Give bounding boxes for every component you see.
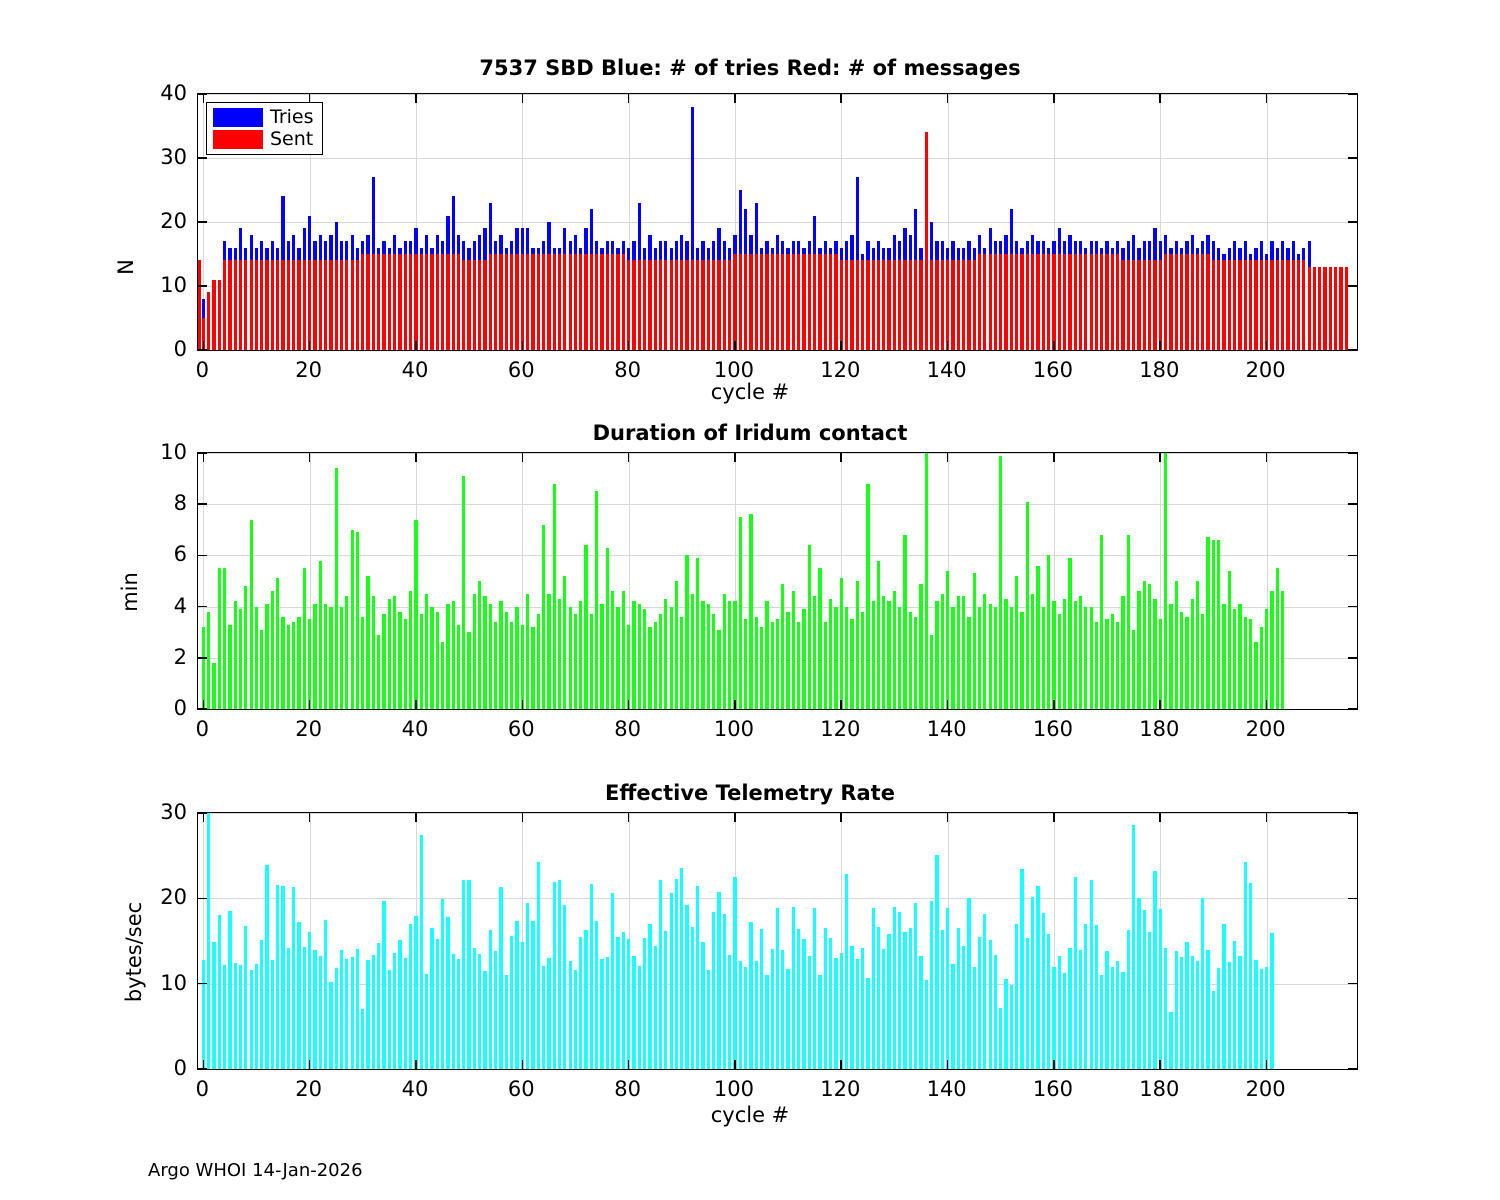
bar-sent	[1244, 260, 1247, 350]
bar-sent	[558, 254, 561, 350]
bar-sent	[319, 260, 322, 350]
ytick-mark	[1348, 657, 1357, 659]
gridline-horizontal	[198, 504, 1357, 505]
bar-rate	[600, 959, 603, 1069]
xtick-label: 160	[1033, 1077, 1073, 1101]
bar-sent	[510, 254, 513, 350]
bar-sent	[1323, 267, 1326, 350]
bar-rate	[542, 966, 545, 1069]
bar-sent	[228, 260, 231, 350]
xtick-label: 0	[196, 358, 209, 382]
bar-rate	[1068, 948, 1071, 1069]
bar-rate	[632, 956, 635, 1069]
xtick-mark	[947, 341, 949, 350]
ytick-mark	[1348, 221, 1357, 223]
bar-sent	[1100, 254, 1103, 350]
bar-duration	[452, 601, 455, 709]
bar-sent	[606, 254, 609, 350]
bar-sent	[1175, 254, 1178, 350]
bar-sent	[462, 260, 465, 350]
bar-duration	[707, 604, 710, 709]
bar-duration	[1105, 619, 1108, 709]
bar-sent	[994, 254, 997, 350]
xtick-mark	[628, 453, 630, 462]
bar-sent	[983, 254, 986, 350]
bar-sent	[377, 254, 380, 350]
bar-sent	[345, 260, 348, 350]
bar-rate	[584, 930, 587, 1069]
bar-sent	[452, 254, 455, 350]
panel3-plot-area	[197, 812, 1358, 1070]
bar-rate	[930, 901, 933, 1069]
xtick-mark	[734, 341, 736, 350]
bar-sent	[420, 254, 423, 350]
bar-sent	[526, 254, 529, 350]
bar-duration	[808, 545, 811, 709]
bar-rate	[877, 927, 880, 1069]
bar-sent	[675, 260, 678, 350]
bar-sent	[584, 254, 587, 350]
bar-sent	[733, 254, 736, 350]
bar-sent	[1132, 260, 1135, 350]
bar-rate	[909, 928, 912, 1069]
bar-duration	[802, 609, 805, 709]
ytick-label: 0	[119, 1056, 187, 1080]
bar-duration	[234, 601, 237, 709]
bar-rate	[962, 946, 965, 1069]
xtick-mark	[203, 453, 205, 462]
bar-sent	[393, 254, 396, 350]
bar-duration	[606, 548, 609, 709]
gridline-horizontal	[198, 158, 1357, 159]
bar-rate	[281, 886, 284, 1069]
bar-sent	[356, 260, 359, 350]
bar-sent	[483, 260, 486, 350]
bar-sent	[749, 254, 752, 350]
bar-sent	[872, 260, 875, 350]
xtick-mark	[1266, 453, 1268, 462]
bar-duration	[1090, 607, 1093, 709]
bar-duration	[962, 596, 965, 709]
bar-sent	[755, 254, 758, 350]
ytick-label: 8	[119, 491, 187, 515]
xtick-mark	[734, 1060, 736, 1069]
bar-sent	[1180, 254, 1183, 350]
bar-duration	[670, 607, 673, 709]
bar-sent	[829, 254, 832, 350]
bar-duration	[478, 581, 481, 709]
bar-rate	[446, 917, 449, 1069]
bar-sent	[696, 260, 699, 350]
xtick-mark	[1159, 1060, 1161, 1069]
bar-rate	[579, 937, 582, 1069]
bar-rate	[680, 868, 683, 1069]
bar-duration	[313, 604, 316, 709]
bar-duration	[1254, 642, 1257, 709]
bar-rate	[239, 965, 242, 1069]
bar-rate	[824, 928, 827, 1069]
bar-duration	[680, 617, 683, 709]
bar-sent	[308, 260, 311, 350]
bar-duration	[1191, 599, 1194, 709]
ytick-mark	[198, 285, 207, 287]
bar-sent	[1334, 267, 1337, 350]
bar-duration	[717, 630, 720, 709]
bar-sent	[303, 260, 306, 350]
bar-rate	[611, 893, 614, 1069]
xtick-label: 40	[402, 1077, 429, 1101]
bar-duration	[1031, 594, 1034, 709]
xtick-mark	[628, 700, 630, 709]
bar-duration	[760, 627, 763, 709]
bar-rate	[521, 942, 524, 1069]
bar-duration	[372, 596, 375, 709]
ytick-mark	[198, 555, 207, 557]
bar-sent	[457, 254, 460, 350]
bar-sent	[1318, 267, 1321, 350]
bar-sent	[771, 254, 774, 350]
bar-duration	[1276, 568, 1279, 709]
bar-duration	[1270, 591, 1273, 709]
bar-rate	[1100, 975, 1103, 1069]
bar-sent	[611, 254, 614, 350]
ytick-mark	[198, 657, 207, 659]
bar-sent	[914, 260, 917, 350]
bar-duration	[675, 581, 678, 709]
xtick-mark	[309, 341, 311, 350]
bar-sent	[1090, 254, 1093, 350]
bar-sent	[893, 260, 896, 350]
bar-rate	[526, 903, 529, 1069]
ytick-mark	[198, 503, 207, 505]
bar-sent	[590, 254, 593, 350]
bar-sent	[1121, 260, 1124, 350]
bar-sent	[1164, 254, 1167, 350]
bar-sent	[818, 254, 821, 350]
bar-rate	[994, 955, 997, 1069]
bar-duration	[914, 617, 917, 709]
bar-rate	[1201, 898, 1204, 1069]
bar-sent	[425, 254, 428, 350]
bar-duration	[792, 591, 795, 709]
bar-rate	[861, 948, 864, 1069]
bar-sent	[1201, 254, 1204, 350]
bar-rate	[499, 887, 502, 1069]
bar-rate	[898, 912, 901, 1069]
xtick-mark	[522, 1060, 524, 1069]
bar-duration	[1175, 581, 1178, 709]
bar-sent	[1105, 254, 1108, 350]
bar-rate	[765, 975, 768, 1069]
bar-rate	[265, 865, 268, 1069]
bar-rate	[430, 928, 433, 1069]
bar-duration	[930, 635, 933, 709]
bar-duration	[218, 568, 221, 709]
bar-duration	[1217, 540, 1220, 709]
bar-duration	[398, 612, 401, 709]
bar-sent	[1281, 260, 1284, 350]
bar-rate	[287, 948, 290, 1069]
bar-rate	[1222, 924, 1225, 1069]
bar-duration	[946, 571, 949, 709]
bar-sent	[643, 260, 646, 350]
bar-sent	[887, 260, 890, 350]
bar-rate	[973, 967, 976, 1069]
bar-rate	[366, 960, 369, 1069]
bar-sent	[856, 260, 859, 350]
bar-rate	[244, 926, 247, 1069]
bar-rate	[372, 955, 375, 1069]
bar-sent	[1212, 260, 1215, 350]
bar-sent	[1063, 254, 1066, 350]
bar-sent	[1047, 254, 1050, 350]
xtick-label: 80	[614, 1077, 641, 1101]
bar-duration	[728, 601, 731, 709]
bar-duration	[973, 573, 976, 709]
xtick-label: 200	[1246, 358, 1286, 382]
xtick-label: 200	[1246, 717, 1286, 741]
bar-rate	[250, 970, 253, 1069]
bar-duration	[957, 596, 960, 709]
bar-rate	[531, 921, 534, 1069]
bar-rate	[1042, 913, 1045, 1069]
bar-duration	[1238, 604, 1241, 709]
bar-sent	[281, 260, 284, 350]
bar-sent	[1015, 254, 1018, 350]
bar-sent	[382, 254, 385, 350]
bar-rate	[813, 908, 816, 1069]
bar-rate	[829, 938, 832, 1069]
xtick-mark	[1266, 813, 1268, 822]
bar-sent	[478, 260, 481, 350]
bar-rate	[1079, 950, 1082, 1069]
xtick-mark	[415, 94, 417, 103]
bar-duration	[574, 614, 577, 709]
bar-rate	[202, 960, 205, 1069]
bar-rate	[1233, 941, 1236, 1069]
xtick-label: 180	[1139, 358, 1179, 382]
bar-rate	[558, 880, 561, 1069]
bar-duration	[1180, 612, 1183, 709]
bar-rate	[404, 958, 407, 1069]
bar-duration	[861, 612, 864, 709]
bar-rate	[1185, 942, 1188, 1069]
bar-rate	[260, 940, 263, 1069]
bar-rate	[760, 929, 763, 1069]
bar-sent	[877, 260, 880, 350]
legend-swatch-sent	[213, 130, 263, 149]
legend-row-tries: Tries	[213, 108, 314, 127]
bar-sent	[654, 260, 657, 350]
bar-sent	[1153, 260, 1156, 350]
bar-duration	[207, 612, 210, 709]
bar-rate	[616, 937, 619, 1069]
argo-telemetry-figure: 7537 SBD Blue: # of tries Red: # of mess…	[0, 0, 1500, 1200]
bar-rate	[1270, 933, 1273, 1069]
xtick-mark	[415, 1060, 417, 1069]
bar-rate	[1217, 968, 1220, 1069]
bar-rate	[388, 970, 391, 1069]
bar-duration	[824, 622, 827, 709]
bar-duration	[223, 568, 226, 709]
bar-duration	[202, 627, 205, 709]
bar-duration	[308, 619, 311, 709]
bar-duration	[239, 609, 242, 709]
panel2-title: Duration of Iridum contact	[0, 421, 1500, 445]
gridline-horizontal	[198, 898, 1357, 899]
ytick-mark	[1348, 285, 1357, 287]
panel3-title: Effective Telemetry Rate	[0, 781, 1500, 805]
bar-duration	[521, 625, 524, 709]
bar-sent	[579, 254, 582, 350]
bar-rate	[1169, 1012, 1172, 1069]
bar-sent	[366, 254, 369, 350]
bar-sent	[999, 254, 1002, 350]
bar-sent	[648, 260, 651, 350]
bar-rate	[483, 971, 486, 1069]
xtick-label: 100	[714, 358, 754, 382]
bar-duration	[723, 594, 726, 709]
bar-duration	[638, 604, 641, 709]
bar-duration	[834, 607, 837, 709]
xtick-mark	[203, 813, 205, 822]
bar-duration	[393, 596, 396, 709]
bar-sent	[1222, 260, 1225, 350]
bar-rate	[659, 880, 662, 1069]
bar-duration	[366, 576, 369, 709]
bar-rate	[696, 886, 699, 1069]
bar-duration	[462, 476, 465, 709]
bar-rate	[850, 946, 853, 1069]
xtick-mark	[522, 453, 524, 462]
bar-duration	[1116, 622, 1119, 709]
bar-rate	[691, 927, 694, 1069]
gridline-horizontal	[198, 813, 1357, 814]
bar-sent	[808, 254, 811, 350]
panel1-legend: Tries Sent	[206, 102, 323, 155]
xtick-mark	[522, 813, 524, 822]
ytick-mark	[198, 221, 207, 223]
bar-rate	[670, 893, 673, 1069]
xtick-label: 100	[714, 1077, 754, 1101]
bar-sent	[1345, 267, 1348, 350]
bar-rate	[335, 968, 338, 1069]
xtick-mark	[1053, 94, 1055, 103]
ytick-mark	[198, 606, 207, 608]
bar-rate	[595, 921, 598, 1069]
bar-sent	[260, 260, 263, 350]
bar-sent	[1217, 260, 1220, 350]
bar-sent	[882, 260, 885, 350]
bar-sent	[595, 254, 598, 350]
bar-duration	[866, 484, 869, 709]
bar-duration	[292, 622, 295, 709]
bar-duration	[537, 614, 540, 709]
bar-rate	[739, 961, 742, 1069]
bar-duration	[388, 599, 391, 709]
bar-duration	[691, 594, 694, 709]
bar-rate	[1196, 961, 1199, 1069]
bar-duration	[260, 630, 263, 709]
bar-duration	[749, 514, 752, 709]
xtick-mark	[1053, 700, 1055, 709]
bar-duration	[845, 607, 848, 709]
xtick-mark	[1159, 453, 1161, 462]
bar-sent	[1058, 254, 1061, 350]
bar-sent	[441, 254, 444, 350]
bar-sent	[515, 254, 518, 350]
bar-duration	[505, 612, 508, 709]
bar-duration	[340, 607, 343, 709]
bar-sent	[632, 260, 635, 350]
xtick-label: 60	[508, 358, 535, 382]
legend-label-sent: Sent	[270, 130, 313, 149]
bar-duration	[818, 568, 821, 709]
bar-duration	[579, 601, 582, 709]
xtick-mark	[522, 341, 524, 350]
bar-sent	[276, 260, 279, 350]
bar-sent	[1185, 254, 1188, 350]
ytick-label: 4	[119, 594, 187, 618]
bar-rate	[957, 928, 960, 1069]
panel1-plot-area	[197, 93, 1358, 351]
bar-duration	[1265, 609, 1268, 709]
bar-duration	[1111, 614, 1114, 709]
bar-duration	[786, 612, 789, 709]
xtick-mark	[309, 1060, 311, 1069]
bar-rate	[935, 855, 938, 1069]
bar-duration	[409, 591, 412, 709]
xtick-mark	[1053, 813, 1055, 822]
bar-rate	[818, 975, 821, 1069]
bar-duration	[994, 607, 997, 709]
bar-duration	[494, 622, 497, 709]
bar-duration	[531, 627, 534, 709]
bar-rate	[361, 1009, 364, 1069]
bar-duration	[1010, 607, 1013, 709]
bar-duration	[1222, 604, 1225, 709]
bar-duration	[648, 627, 651, 709]
bar-sent	[909, 260, 912, 350]
xtick-mark	[840, 341, 842, 350]
bar-rate	[1249, 883, 1252, 1069]
bar-rate	[553, 882, 556, 1069]
bar-duration	[542, 525, 545, 709]
xtick-label: 60	[508, 1077, 535, 1101]
xtick-label: 180	[1139, 717, 1179, 741]
bar-rate	[1090, 880, 1093, 1069]
bar-rate	[845, 874, 848, 1069]
bar-sent	[1026, 254, 1029, 350]
bar-sent	[313, 260, 316, 350]
bar-rate	[462, 880, 465, 1069]
bar-duration	[1249, 619, 1252, 709]
bar-sent	[1010, 254, 1013, 350]
ytick-mark	[1348, 983, 1357, 985]
bar-duration	[887, 601, 890, 709]
xtick-label: 0	[196, 717, 209, 741]
bar-sent	[494, 254, 497, 350]
bar-rate	[755, 961, 758, 1069]
bar-duration	[903, 535, 906, 709]
bar-duration	[978, 607, 981, 709]
ytick-label: 2	[119, 645, 187, 669]
bar-duration	[919, 584, 922, 709]
ytick-mark	[1348, 452, 1357, 454]
ytick-label: 20	[119, 209, 187, 233]
bar-rate	[1116, 961, 1119, 1069]
bar-rate	[223, 965, 226, 1069]
